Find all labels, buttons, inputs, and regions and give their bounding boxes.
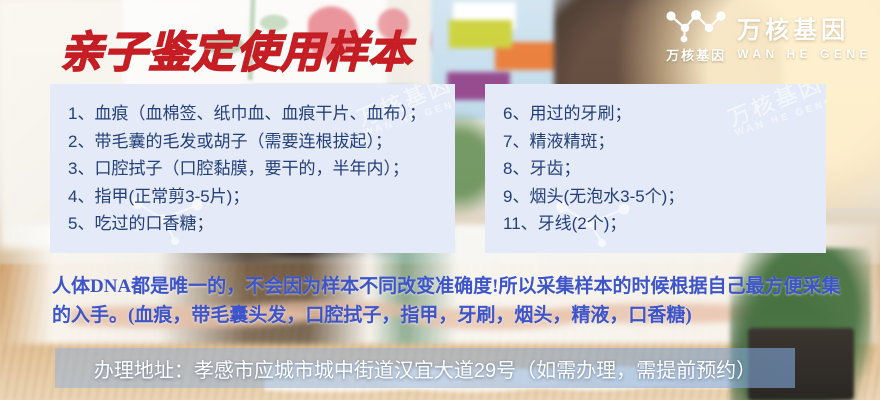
sample-list-left: 1、血痕（血棉签、纸巾血、血痕干片、血布）； 2、带毛囊的毛发或胡子（需要连根拔… <box>68 100 447 238</box>
sample-panel-right: 6、用过的牙刷； 7、精液精斑； 8、牙齿； 9、烟头(无泡水3-5个)； 11… <box>485 84 826 253</box>
sample-panel-left: 1、血痕（血棉签、纸巾血、血痕干片、血布）； 2、带毛囊的毛发或胡子（需要连根拔… <box>50 84 455 253</box>
logo-brand-cn: 万核基因 <box>737 19 872 43</box>
address-text: 办理地址：孝感市应城市城中街道汉宜大道29号（如需办理，需提前预约） <box>94 354 756 383</box>
sample-panels: 1、血痕（血棉签、纸巾血、血痕干片、血布）； 2、带毛囊的毛发或胡子（需要连根拔… <box>50 84 826 253</box>
note-line-1: 人体DNA都是唯一的，不会因为样本不同改变准确度!所以采集样本的时候根据自己最方… <box>52 272 842 301</box>
page-title: 亲子鉴定使用样本 <box>60 18 412 80</box>
dna-molecule-icon <box>663 6 729 44</box>
note-line-2: 的入手。(血痕，带毛囊头发，口腔拭子，指甲，牙刷，烟头，精液，口香糖) <box>52 301 842 330</box>
poster-root: 亲子鉴定使用样本 <box>0 0 880 400</box>
list-item: 7、精液精斑； <box>503 128 818 156</box>
brand-logo: 万核基因 万核基因 WAN HE GENE <box>663 6 872 64</box>
list-item: 8、牙齿； <box>503 155 818 183</box>
note-paragraph: 人体DNA都是唯一的，不会因为样本不同改变准确度!所以采集样本的时候根据自己最方… <box>52 272 842 331</box>
logo-mark: 万核基因 <box>663 6 729 64</box>
list-item: 2、带毛囊的毛发或胡子（需要连根拔起）； <box>68 128 447 156</box>
list-item: 6、用过的牙刷； <box>503 100 818 128</box>
logo-mark-label: 万核基因 <box>663 45 729 64</box>
list-item: 5、吃过的口香糖； <box>68 210 447 238</box>
logo-brand-en: WAN HE GENE <box>737 47 872 61</box>
list-item: 3、口腔拭子（口腔黏膜，要干的，半年内）； <box>68 155 447 183</box>
list-item: 1、血痕（血棉签、纸巾血、血痕干片、血布）； <box>68 100 447 128</box>
list-item: 11、牙线(2个)； <box>503 210 818 238</box>
list-item: 9、烟头(无泡水3-5个)； <box>503 183 818 211</box>
address-bar: 办理地址：孝感市应城市城中街道汉宜大道29号（如需办理，需提前预约） <box>55 348 795 388</box>
logo-wordmark: 万核基因 WAN HE GENE <box>737 6 872 61</box>
list-item: 4、指甲(正常剪3-5片)； <box>68 183 447 211</box>
sample-list-right: 6、用过的牙刷； 7、精液精斑； 8、牙齿； 9、烟头(无泡水3-5个)； 11… <box>503 100 818 238</box>
